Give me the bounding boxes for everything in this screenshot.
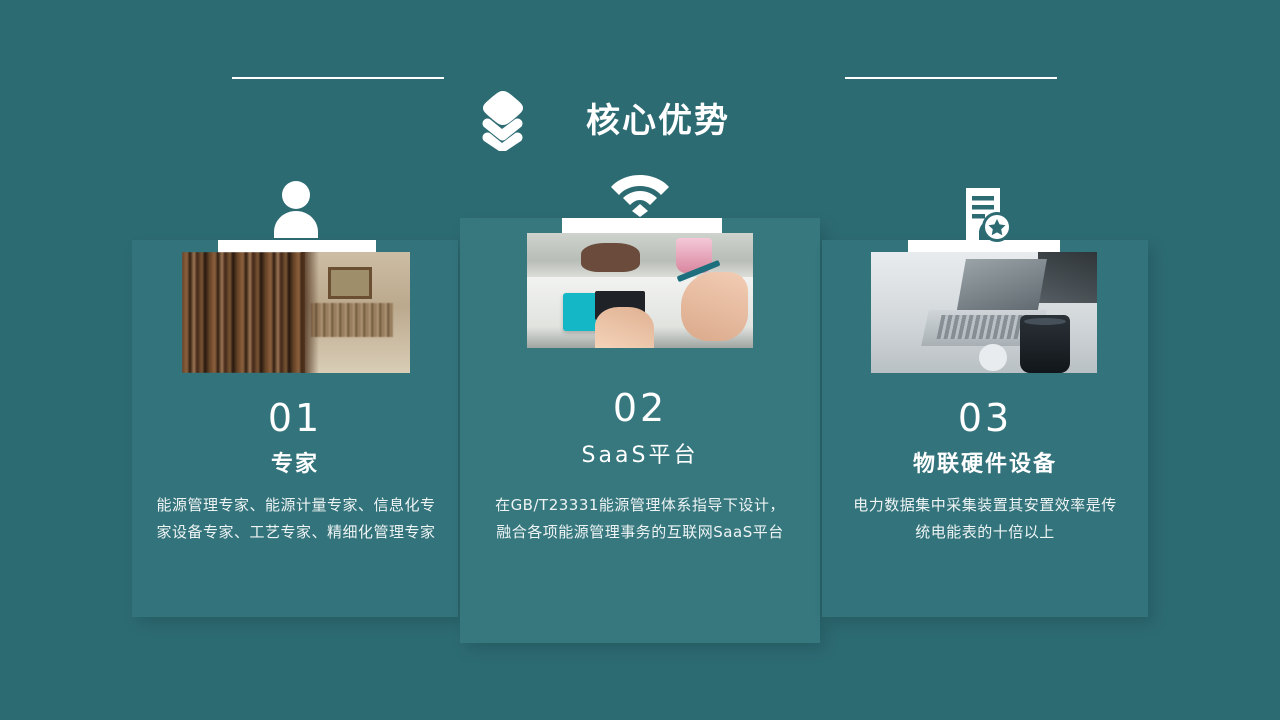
desk-tablet-meeting-photo <box>527 233 753 348</box>
card-number-01: 01 <box>132 396 458 440</box>
wifi-icon <box>610 173 670 217</box>
card-description-01: 能源管理专家、能源计量专家、信息化专家设备专家、工艺专家、精细化管理专家 <box>150 492 442 546</box>
card-description-02: 在GB/T23331能源管理体系指导下设计，融合各项能源管理事务的互联网SaaS… <box>488 492 792 546</box>
library-bookshelves-photo <box>182 252 410 373</box>
card-number-02: 02 <box>460 386 820 430</box>
certificate-star-icon <box>956 186 1014 242</box>
person-icon <box>266 180 326 238</box>
feature-card-group: 01 专家 能源管理专家、能源计量专家、信息化专家设备专家、工艺专家、精细化管理… <box>0 0 1280 720</box>
slide-root: 核心优势 <box>0 0 1280 720</box>
laptop-desk-photo <box>871 252 1097 373</box>
card-title-03: 物联硬件设备 <box>822 450 1148 480</box>
card-title-01: 专家 <box>132 450 458 480</box>
card-title-02: SaaS平台 <box>460 441 820 471</box>
card-description-03: 电力数据集中采集装置其安置效率是传统电能表的十倍以上 <box>848 492 1122 546</box>
card-number-03: 03 <box>822 396 1148 440</box>
